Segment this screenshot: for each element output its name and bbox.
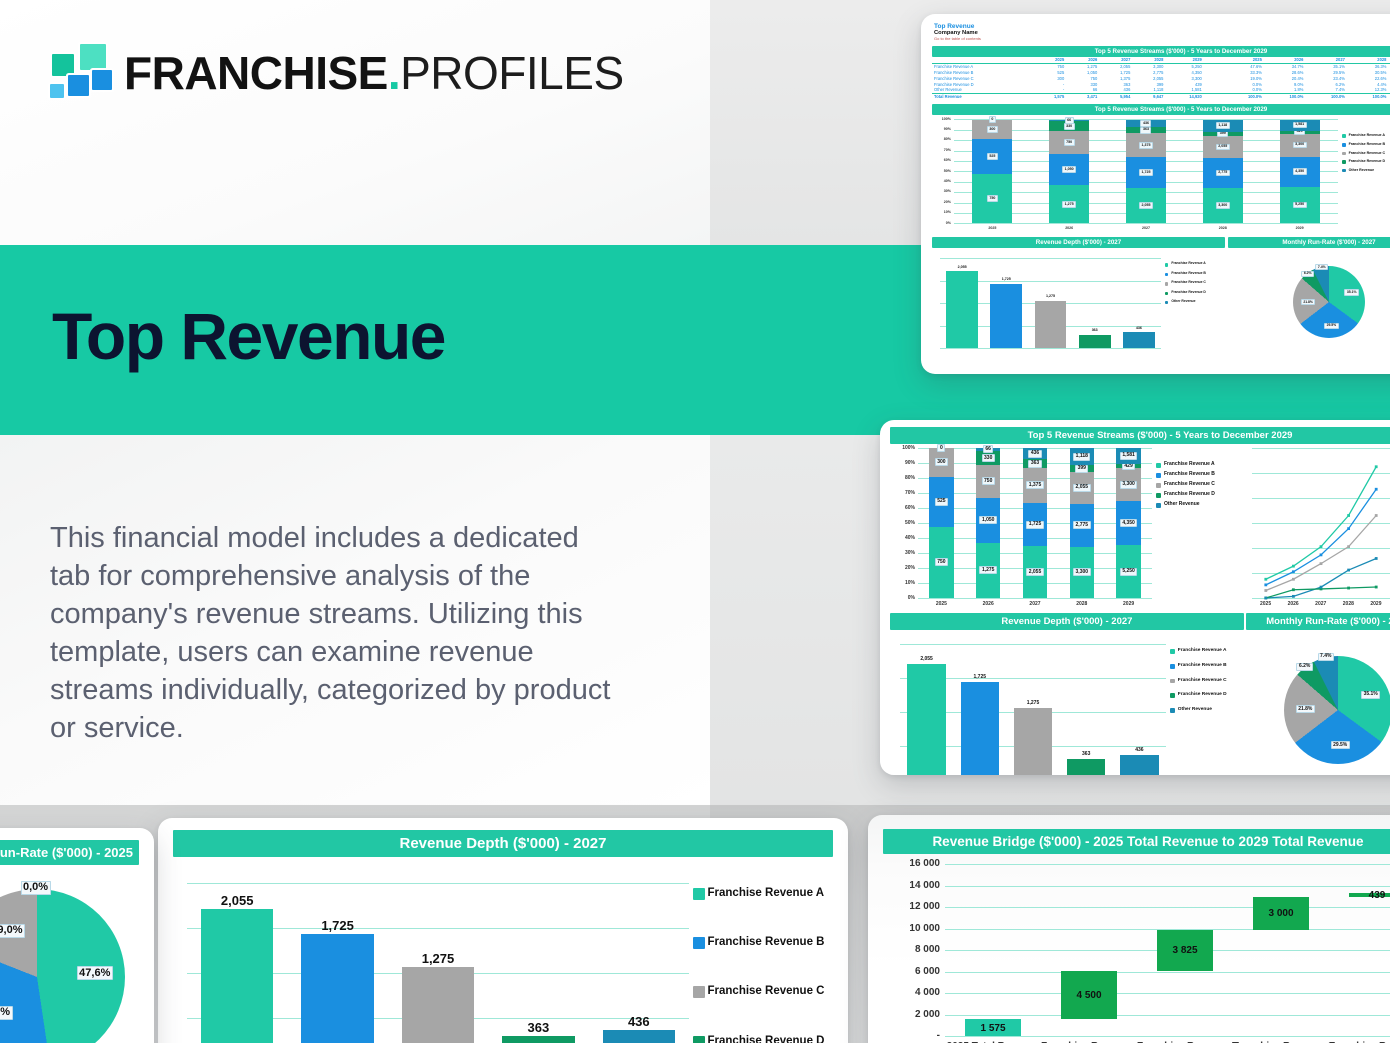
- logo-square-blue-dark: [92, 70, 112, 90]
- depth-chart-title-a: Revenue Depth ($'000) - 2027: [932, 237, 1225, 248]
- logo-square-teal-light: [80, 44, 106, 70]
- runrate-chart-title-a: Monthly Run-Rate ($'000) - 2027: [1228, 237, 1390, 248]
- run-rate-line-chart: -1,0002,0003,0004,0005,0006,000202520262…: [1246, 444, 1390, 612]
- stacked-chart-title-b: Top 5 Revenue Streams ($'000) - 5 Years …: [890, 427, 1390, 444]
- page-title: Top Revenue: [52, 303, 445, 369]
- revenue-depth-chart-mini: 2,0551,7251,275363436Franchise Revenue A…: [932, 248, 1225, 356]
- revenue-depth-title: Revenue Depth ($'000) - 2027: [173, 830, 833, 857]
- stacked-bar-chart-mini: 0%10%20%30%40%50%60%70%80%90%100%7505253…: [932, 115, 1390, 235]
- revenue-bridge-title: Revenue Bridge ($'000) - 2025 Total Reve…: [883, 829, 1390, 854]
- page-description: This financial model includes a dedicate…: [50, 520, 615, 748]
- revenue-depth-chart-large: 2,0551,7251,275363436Franchise Revenue A…: [173, 857, 848, 1043]
- stacked-bar-chart: 0%10%20%30%40%50%60%70%80%90%100%7505253…: [890, 444, 1244, 612]
- stacked-chart-title-a: Top 5 Revenue Streams ($'000) - 5 Years …: [932, 104, 1390, 115]
- screenshot-card-revenue-depth: Revenue Depth ($'000) - 2027 2,0551,7251…: [158, 818, 848, 1043]
- logo-word-franchise: FRANCHISE: [124, 47, 388, 99]
- table-total-row: Total Revenue 1,5753,4715,9549,64714,920…: [932, 93, 1390, 99]
- revenue-depth-chart: 2,0551,7251,275363436Franchise Revenue A…: [890, 630, 1244, 775]
- logo-square-blue-light: [50, 84, 64, 98]
- run-rate-2025-title: Monthly Run-Rate ($'000) - 2025: [0, 840, 139, 865]
- logo-wordmark: FRANCHISE.PROFILES: [124, 50, 624, 96]
- revenue-bridge-chart: -2 0004 0006 0008 00010 00012 00014 0001…: [883, 854, 1390, 1043]
- run-rate-pie-mini: 35.1%29.5%21.8%6.2%7.4%: [1228, 248, 1390, 356]
- screenshot-card-run-rate-2025: Monthly Run-Rate ($'000) - 2025 47,6%33,…: [0, 828, 154, 1043]
- background-panel-top-left: [0, 0, 710, 245]
- sheet-toc-link[interactable]: Go to the table of contents: [934, 36, 1390, 41]
- logo-word-profiles: PROFILES: [400, 47, 624, 99]
- screenshot-card-revenue-bridge: Revenue Bridge ($'000) - 2025 Total Reve…: [868, 815, 1390, 1043]
- screenshot-card-charts: Top 5 Revenue Streams ($'000) - 5 Years …: [880, 420, 1390, 775]
- logo-dot: .: [388, 47, 400, 99]
- logo-square-teal-dark: [52, 54, 74, 76]
- revenue-table: 2025 2026 2027 2028 2029 2025 2026 2027 …: [932, 57, 1390, 99]
- runrate-chart-title-b: Monthly Run-Rate ($'000) - 2027: [1246, 613, 1390, 630]
- logo-square-blue-mid: [68, 75, 89, 96]
- depth-chart-title-b: Revenue Depth ($'000) - 2027: [890, 613, 1244, 630]
- screenshot-card-spreadsheet: Top Revenue Company Name Go to the table…: [921, 14, 1390, 374]
- run-rate-pie-chart: 35.1%29.5%21.8%6.2%7.4%: [1246, 630, 1390, 775]
- run-rate-pie-2025: 47,6%33,3%19,0%0,0%0,0%: [0, 865, 154, 1043]
- table-header-band: Top 5 Revenue Streams ($'000) - 5 Years …: [932, 46, 1390, 57]
- logo-squares-icon: [44, 42, 108, 104]
- sheet-title: Top Revenue: [934, 23, 1390, 30]
- brand-logo: FRANCHISE.PROFILES: [44, 42, 624, 104]
